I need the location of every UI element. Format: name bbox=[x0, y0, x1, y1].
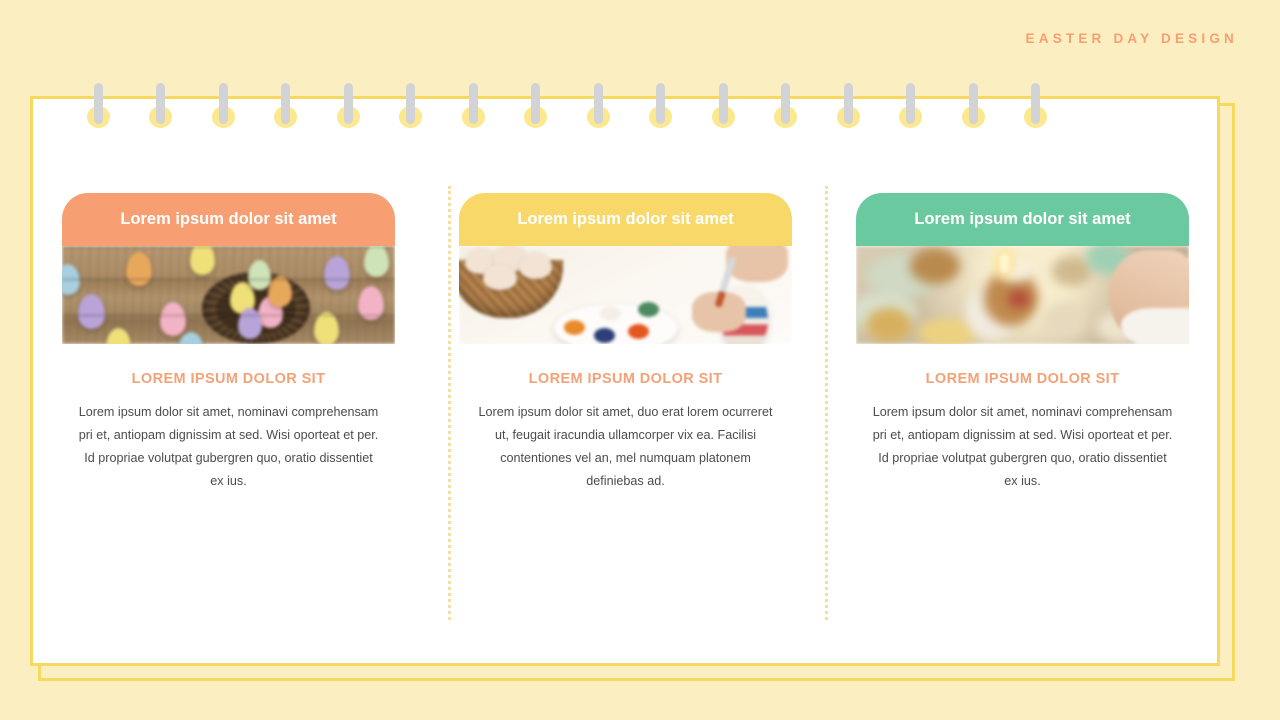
brand-label: EASTER DAY DESIGN bbox=[1026, 31, 1238, 46]
column-header-card-2[interactable]: Lorem ipsum dolor sit amet bbox=[459, 193, 792, 246]
candle-flame bbox=[1000, 254, 1009, 272]
table-dish bbox=[1008, 290, 1030, 308]
content-column-3: Lorem ipsum dolor sit amet bbox=[824, 96, 1221, 666]
caption-title-1: LOREM IPSUM DOLOR SIT bbox=[132, 371, 326, 387]
egg-shape bbox=[268, 276, 292, 307]
egg-shape bbox=[248, 260, 271, 290]
column-header-card-3[interactable]: Lorem ipsum dolor sit amet bbox=[856, 193, 1189, 246]
egg-shape bbox=[160, 302, 186, 336]
content-columns: Lorem ipsum dolor sit amet bbox=[30, 96, 1220, 666]
table-dish bbox=[866, 308, 912, 342]
content-column-1: Lorem ipsum dolor sit amet bbox=[30, 96, 427, 666]
egg-shape bbox=[178, 332, 204, 344]
nest-shape bbox=[202, 272, 310, 344]
egg-shape bbox=[519, 252, 552, 279]
egg-shape bbox=[324, 256, 350, 290]
caption-body-3: Lorem ipsum dolor sit amet, nominavi com… bbox=[873, 401, 1173, 493]
column-header-label-2: Lorem ipsum dolor sit amet bbox=[517, 210, 733, 229]
paint-well bbox=[638, 302, 659, 317]
hand-shape bbox=[726, 246, 788, 282]
egg-shape bbox=[258, 296, 283, 328]
paint-well bbox=[600, 306, 621, 321]
caption-title-2: LOREM IPSUM DOLOR SIT bbox=[529, 371, 723, 387]
egg-shape bbox=[483, 264, 517, 290]
egg-shape bbox=[78, 294, 105, 329]
paint-well bbox=[564, 320, 585, 335]
table-dish bbox=[1042, 302, 1086, 338]
sleeve-shape bbox=[1121, 308, 1189, 344]
egg-shape bbox=[190, 246, 215, 275]
column-image-3 bbox=[856, 246, 1189, 344]
paint-palette-shape bbox=[554, 304, 678, 344]
egg-shape bbox=[62, 264, 80, 295]
content-column-2: Lorem ipsum dolor sit amet bbox=[427, 96, 824, 666]
egg-shape bbox=[238, 308, 262, 339]
paint-well bbox=[594, 328, 615, 343]
column-image-1 bbox=[62, 246, 395, 344]
egg-shape bbox=[230, 282, 255, 314]
column-header-card-1[interactable]: Lorem ipsum dolor sit amet bbox=[62, 193, 395, 246]
column-image-2 bbox=[459, 246, 792, 344]
egg-shape bbox=[126, 252, 152, 286]
column-header-label-3: Lorem ipsum dolor sit amet bbox=[914, 210, 1130, 229]
caption-title-3: LOREM IPSUM DOLOR SIT bbox=[926, 371, 1120, 387]
table-dish bbox=[910, 248, 960, 284]
egg-shape bbox=[358, 286, 384, 320]
column-header-label-1: Lorem ipsum dolor sit amet bbox=[120, 210, 336, 229]
paint-well bbox=[628, 324, 649, 339]
caption-body-2: Lorem ipsum dolor sit amet, duo erat lor… bbox=[476, 401, 776, 493]
egg-shape bbox=[314, 312, 339, 344]
caption-body-1: Lorem ipsum dolor sit amet, nominavi com… bbox=[79, 401, 379, 493]
egg-shape bbox=[106, 328, 131, 344]
egg-shape bbox=[364, 246, 389, 277]
